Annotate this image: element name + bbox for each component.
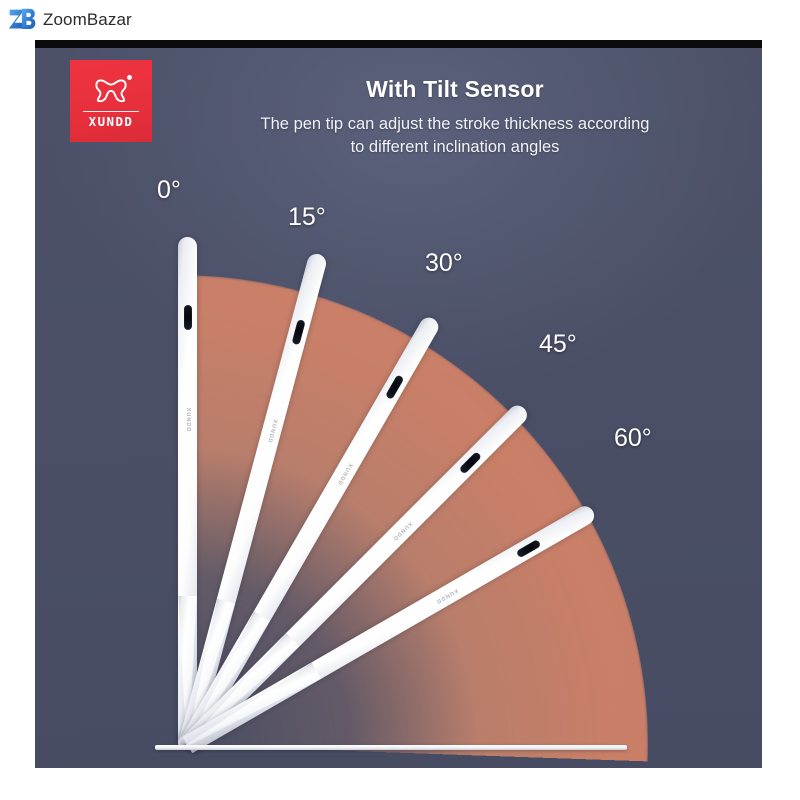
site-brand-name: ZoomBazar	[43, 10, 132, 30]
xundd-butterfly-glyph-icon	[90, 74, 132, 108]
stylus-pen-0deg: XUNDD	[178, 237, 197, 745]
header-text-block: With Tilt Sensor The pen tip can adjust …	[175, 76, 735, 159]
xundd-wordmark: XUNDD	[89, 116, 134, 129]
angle-label-45deg: 45°	[539, 330, 577, 359]
feature-subtitle-line-1: The pen tip can adjust the stroke thickn…	[175, 113, 735, 136]
xundd-brand-badge: XUNDD	[70, 60, 152, 142]
badge-divider	[83, 111, 139, 113]
angle-label-30deg: 30°	[425, 249, 463, 278]
zoombazar-zb-logo-icon	[8, 6, 36, 33]
angle-label-0deg: 0°	[157, 176, 181, 205]
pen-barrel-label: XUNDD	[185, 397, 191, 443]
product-feature-panel: XUNDD With Tilt Sensor The pen tip can a…	[35, 40, 762, 768]
capacitive-slot-icon	[184, 305, 192, 330]
feature-title: With Tilt Sensor	[175, 76, 735, 104]
feature-subtitle: The pen tip can adjust the stroke thickn…	[175, 113, 735, 160]
angle-label-15deg: 15°	[288, 203, 326, 232]
angle-label-60deg: 60°	[614, 424, 652, 453]
writing-surface-line	[155, 745, 627, 750]
site-watermark: ZoomBazar	[8, 6, 132, 33]
registered-dot-icon	[127, 75, 132, 80]
feature-subtitle-line-2: to different inclination angles	[175, 136, 735, 159]
